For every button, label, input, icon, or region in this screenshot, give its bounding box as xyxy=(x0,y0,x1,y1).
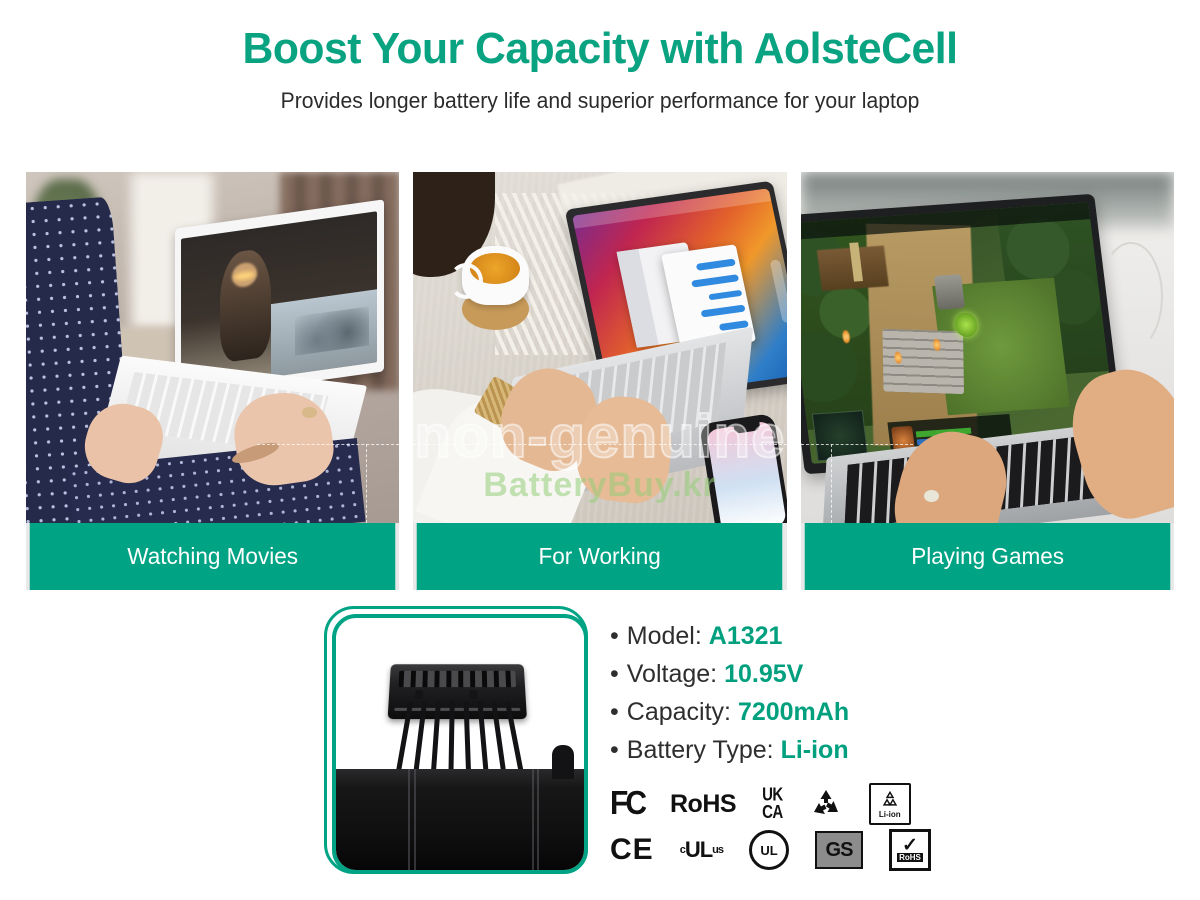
ce-icon: CE xyxy=(610,833,654,867)
spec-value: 10.95V xyxy=(724,660,803,688)
bullet-icon: • xyxy=(610,736,619,764)
use-case-card-for-working[interactable]: For Working xyxy=(413,172,786,590)
page-header: Boost Your Capacity with AolsteCell Prov… xyxy=(0,0,1200,114)
spec-battery-type: •Battery Type: Li-ion xyxy=(610,736,1200,765)
certification-row-1: FC RoHS UK CA xyxy=(610,781,1200,827)
use-case-caption: For Working xyxy=(417,523,783,590)
page-subtitle: Provides longer battery life and superio… xyxy=(24,88,1176,114)
ukca-line2: CA xyxy=(762,804,783,822)
li-ion-label: Li-ion xyxy=(879,810,901,819)
li-ion-recycle-icon: Li-ion xyxy=(869,783,911,825)
spec-label: Battery Type: xyxy=(627,736,774,764)
page-title: Boost Your Capacity with AolsteCell xyxy=(18,26,1182,72)
spec-label: Model: xyxy=(627,622,702,650)
photo-for-working xyxy=(413,172,786,523)
rohs-check-icon: ✓ RoHS xyxy=(889,829,931,871)
spec-voltage: •Voltage: 10.95V xyxy=(610,660,1200,689)
cul-text: UL xyxy=(685,837,712,863)
spec-model: •Model: A1321 xyxy=(610,622,1200,651)
bullet-icon: • xyxy=(610,660,619,688)
ul-circle-icon: UL xyxy=(749,830,789,870)
bullet-icon: • xyxy=(610,698,619,726)
cul-suffix: us xyxy=(712,844,723,856)
spec-value: 7200mAh xyxy=(738,698,849,726)
spec-value: A1321 xyxy=(709,622,783,650)
product-detail-section: •Model: A1321 •Voltage: 10.95V •Capacity… xyxy=(0,606,1200,900)
use-case-caption: Playing Games xyxy=(804,523,1170,590)
bullet-icon: • xyxy=(610,622,619,650)
product-image-frame xyxy=(324,606,588,874)
product-image[interactable] xyxy=(332,614,588,874)
certification-row-2: CE cULus UL GS ✓ RoHS xyxy=(610,827,1200,873)
cul-us-icon: cULus xyxy=(680,837,723,863)
use-case-gallery: Watching Movies xyxy=(26,172,1174,590)
gs-icon: GS xyxy=(815,831,863,869)
photo-watching-movies xyxy=(26,172,399,523)
product-image-wrap xyxy=(0,606,610,900)
use-case-caption: Watching Movies xyxy=(30,523,396,590)
battery-cells xyxy=(332,769,588,870)
spec-capacity: •Capacity: 7200mAh xyxy=(610,698,1200,727)
spec-label: Capacity: xyxy=(627,698,731,726)
recycle-icon xyxy=(809,788,843,820)
rohs-icon: RoHS xyxy=(670,790,736,819)
fcc-icon: FC xyxy=(610,785,644,822)
use-case-card-watching-movies[interactable]: Watching Movies xyxy=(26,172,399,590)
photo-playing-games xyxy=(801,172,1174,523)
check-icon: ✓ xyxy=(902,838,918,853)
spec-value: Li-ion xyxy=(781,736,849,764)
use-case-card-playing-games[interactable]: Playing Games xyxy=(801,172,1174,590)
certification-badges: FC RoHS UK CA xyxy=(610,781,1200,873)
product-specs: •Model: A1321 •Voltage: 10.95V •Capacity… xyxy=(610,606,1200,900)
rohs-check-label: RoHS xyxy=(897,853,923,862)
spec-label: Voltage: xyxy=(627,660,717,688)
ukca-icon: UK CA xyxy=(762,787,783,822)
